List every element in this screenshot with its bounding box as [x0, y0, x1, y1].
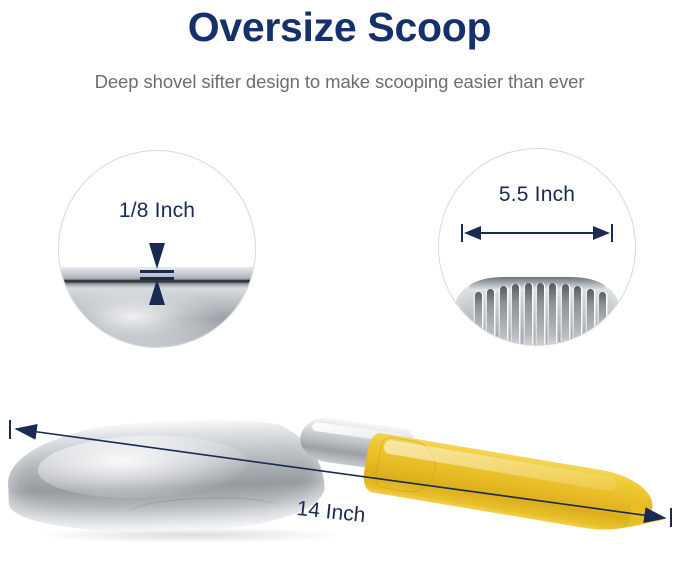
sifter-lower-shade [455, 335, 619, 346]
arrow-right-icon [593, 226, 610, 240]
width-dimension-arrow [461, 224, 613, 242]
scoop-inner-contour [129, 495, 280, 525]
callout-thickness: 1/8 Inch [58, 150, 256, 348]
width-label: 5.5 Inch [439, 183, 635, 207]
slotted-sifter-bowl [455, 277, 619, 346]
header: Oversize Scoop Deep shovel sifter design… [0, 0, 679, 93]
dimension-cap-left [461, 224, 463, 242]
page-title: Oversize Scoop [0, 0, 679, 51]
arrow-down-icon [149, 243, 165, 269]
dimension-line [469, 232, 605, 234]
sifter-slot [599, 292, 606, 340]
arrow-up-icon [149, 279, 165, 305]
product-photo [0, 395, 679, 563]
dimension-cap-right [611, 224, 613, 242]
handle-tip [628, 502, 666, 533]
thickness-label: 1/8 Inch [59, 199, 255, 223]
callout-width: 5.5 Inch [438, 148, 636, 346]
arrow-left-icon [464, 226, 481, 240]
thickness-tick-top [140, 270, 174, 273]
page-subtitle: Deep shovel sifter design to make scoopi… [0, 51, 679, 93]
sifter-slot [475, 292, 482, 340]
